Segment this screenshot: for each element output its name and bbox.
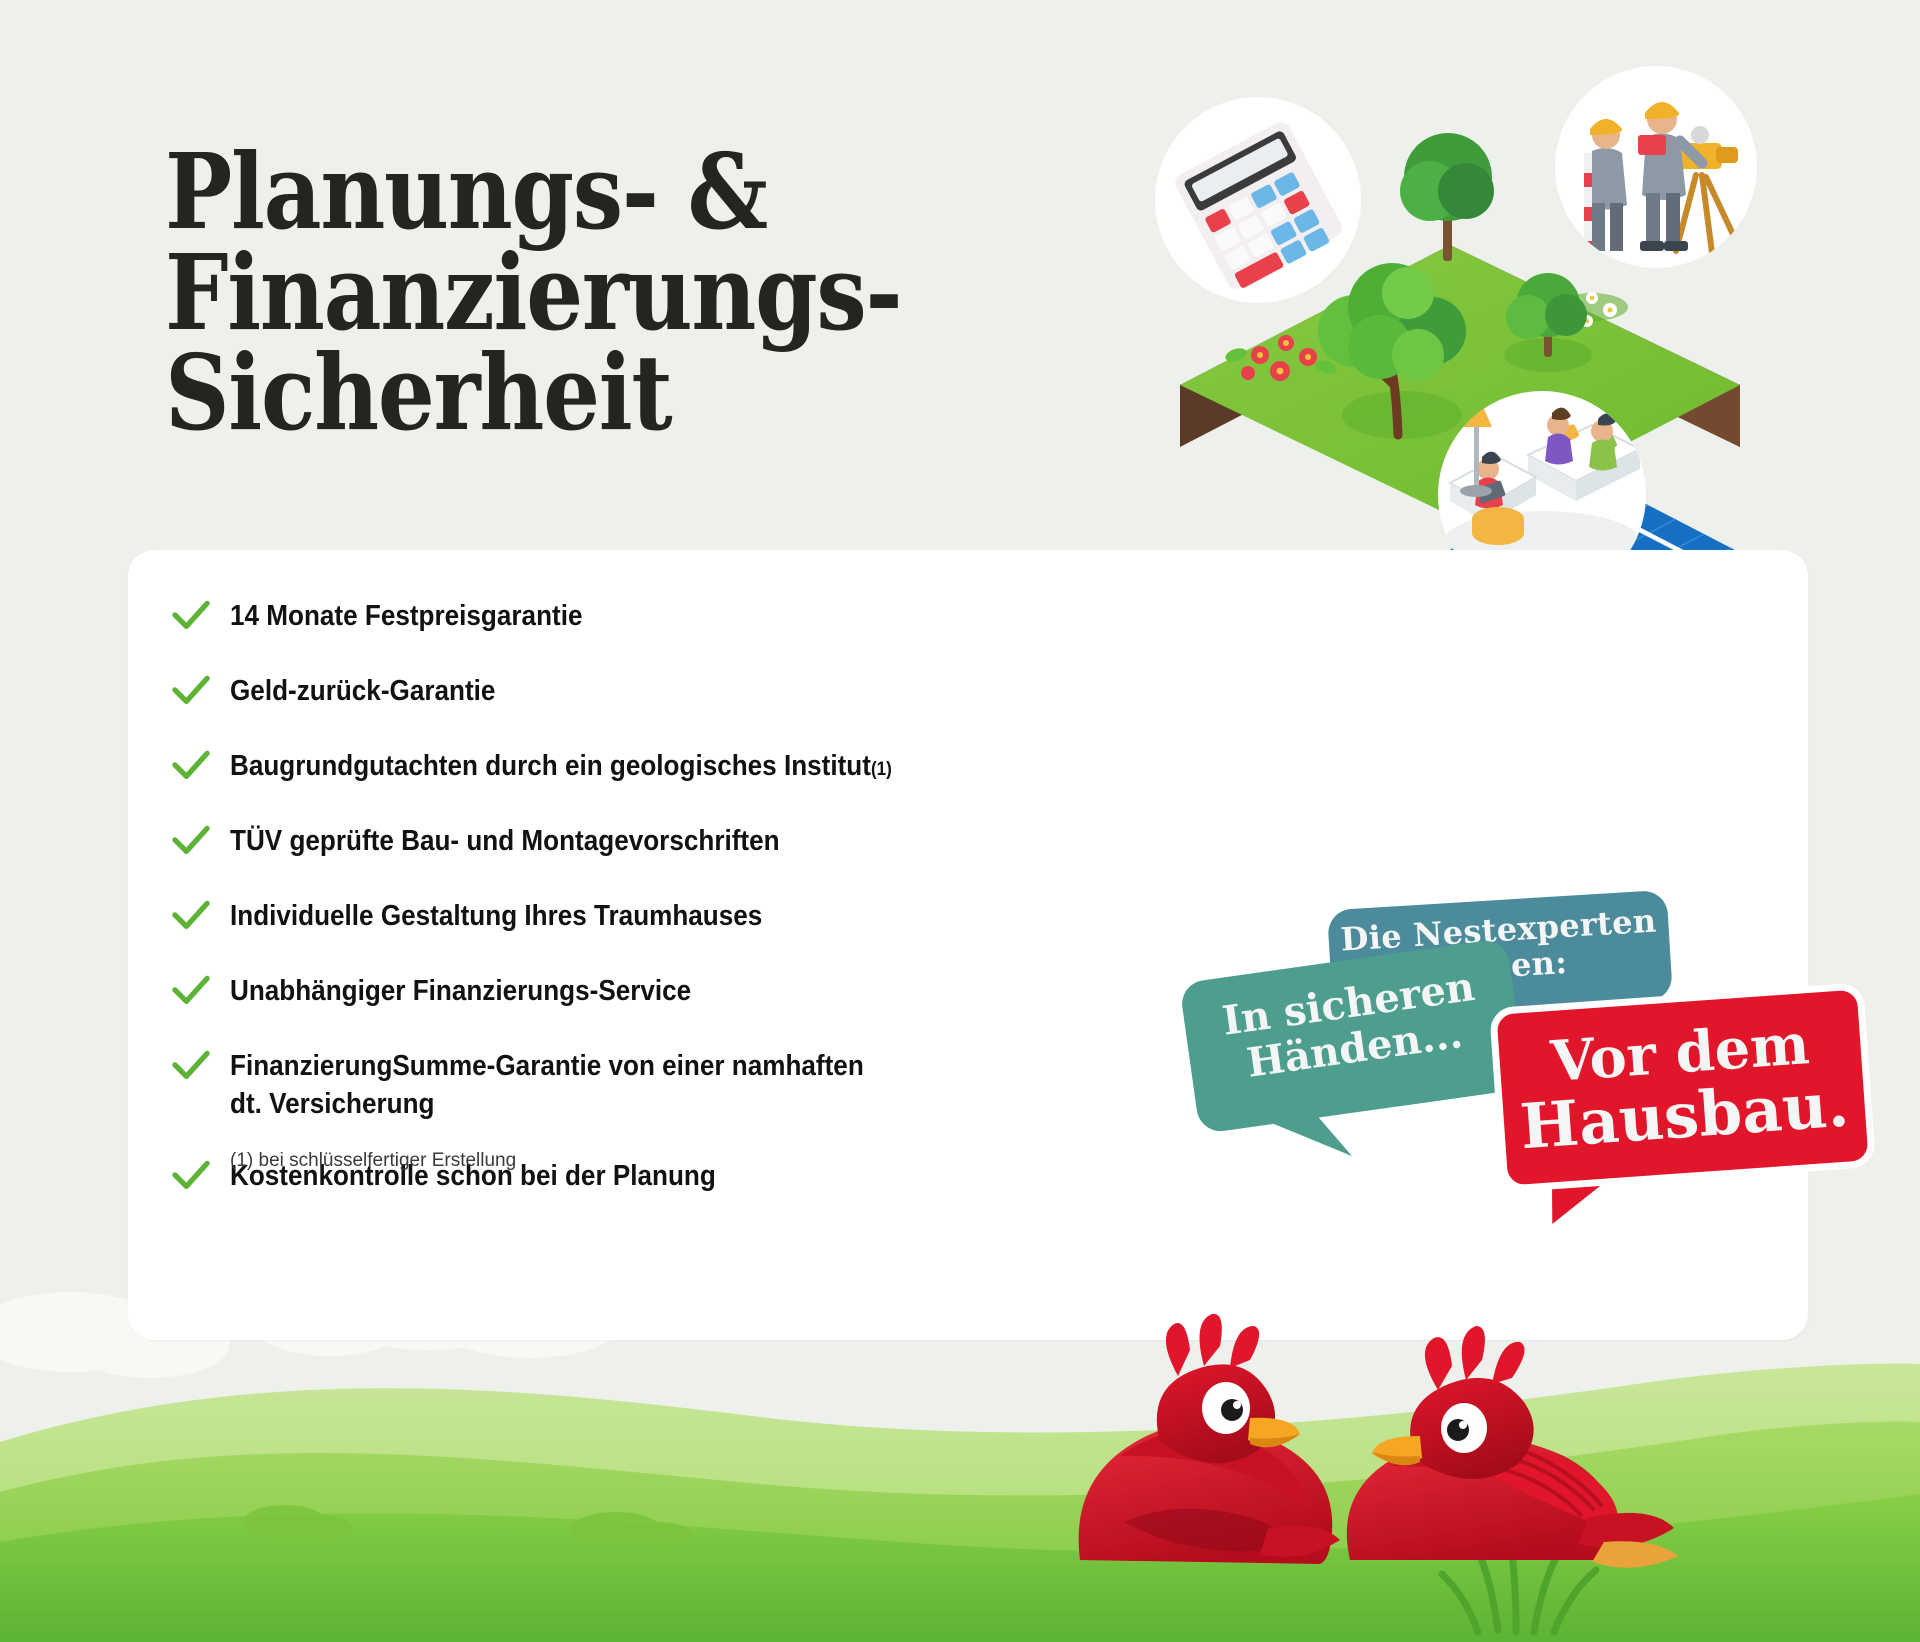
- check-icon: [168, 1043, 214, 1089]
- list-item: Baugrundgutachten durch ein geologisches…: [168, 747, 1228, 789]
- list-item-label: FinanzierungSumme-Garantie von einer nam…: [230, 1050, 864, 1120]
- check-icon: [168, 668, 214, 714]
- list-item: 14 Monate Festpreisgarantie: [168, 597, 1228, 639]
- check-icon: [168, 743, 214, 789]
- list-item-label: 14 Monate Festpreisgarantie: [230, 600, 582, 632]
- list-item: Geld-zurück-Garantie: [168, 672, 1228, 714]
- list-item: FinanzierungSumme-Garantie von einer nam…: [168, 1047, 1228, 1124]
- bird-left: [1079, 1314, 1340, 1564]
- checklist: 14 Monate Festpreisgarantie Geld-zurück-…: [168, 597, 1228, 1199]
- list-item: TÜV geprüfte Bau- und Montagevorschrifte…: [168, 822, 1228, 864]
- check-icon: [168, 593, 214, 639]
- list-item-label: TÜV geprüfte Bau- und Montagevorschrifte…: [230, 825, 780, 857]
- page-title-line-2: Finanzierungs-: [165, 243, 1042, 344]
- bubble-sichere-haende-text: In sicheren Händen...: [1219, 963, 1477, 1087]
- mascot-birds: [1020, 1260, 1780, 1580]
- speech-bubble-group: Die Nestexperten wissen: In sicheren Hän…: [1150, 900, 1850, 1260]
- surveyor-team-badge: [1555, 66, 1757, 268]
- tree-back: [1400, 133, 1494, 261]
- calculator-badge: [1155, 97, 1361, 303]
- footnote: (1) bei schlüsselfertiger Erstellung: [230, 1150, 516, 1172]
- check-icon: [168, 818, 214, 864]
- check-icon: [168, 1153, 214, 1199]
- check-icon: [168, 893, 214, 939]
- page-title-line-1: Planungs- &: [165, 142, 1042, 243]
- poster-stage: Planungs- & Finanzierungs- Sicherheit: [0, 0, 1920, 1642]
- list-item-sup: (1): [871, 759, 892, 780]
- list-item-label: Unabhängiger Finanzierungs-Service: [230, 975, 691, 1007]
- bubble-vor-dem-hausbau: Vor dem Hausbau.: [1489, 982, 1876, 1193]
- list-item: Unabhängiger Finanzierungs-Service: [168, 972, 1228, 1014]
- list-item-label: Individuelle Gestaltung Ihres Traumhause…: [230, 900, 762, 932]
- page-title: Planungs- & Finanzierungs- Sicherheit: [165, 142, 1042, 445]
- page-title-line-3: Sicherheit: [165, 343, 1042, 444]
- pouf: [1472, 507, 1524, 545]
- bird-right: [1347, 1326, 1678, 1568]
- check-icon: [168, 968, 214, 1014]
- list-item-label: Geld-zurück-Garantie: [230, 675, 495, 707]
- list-item: Individuelle Gestaltung Ihres Traumhause…: [168, 897, 1228, 939]
- list-item-label: Baugrundgutachten durch ein geologisches…: [230, 750, 871, 782]
